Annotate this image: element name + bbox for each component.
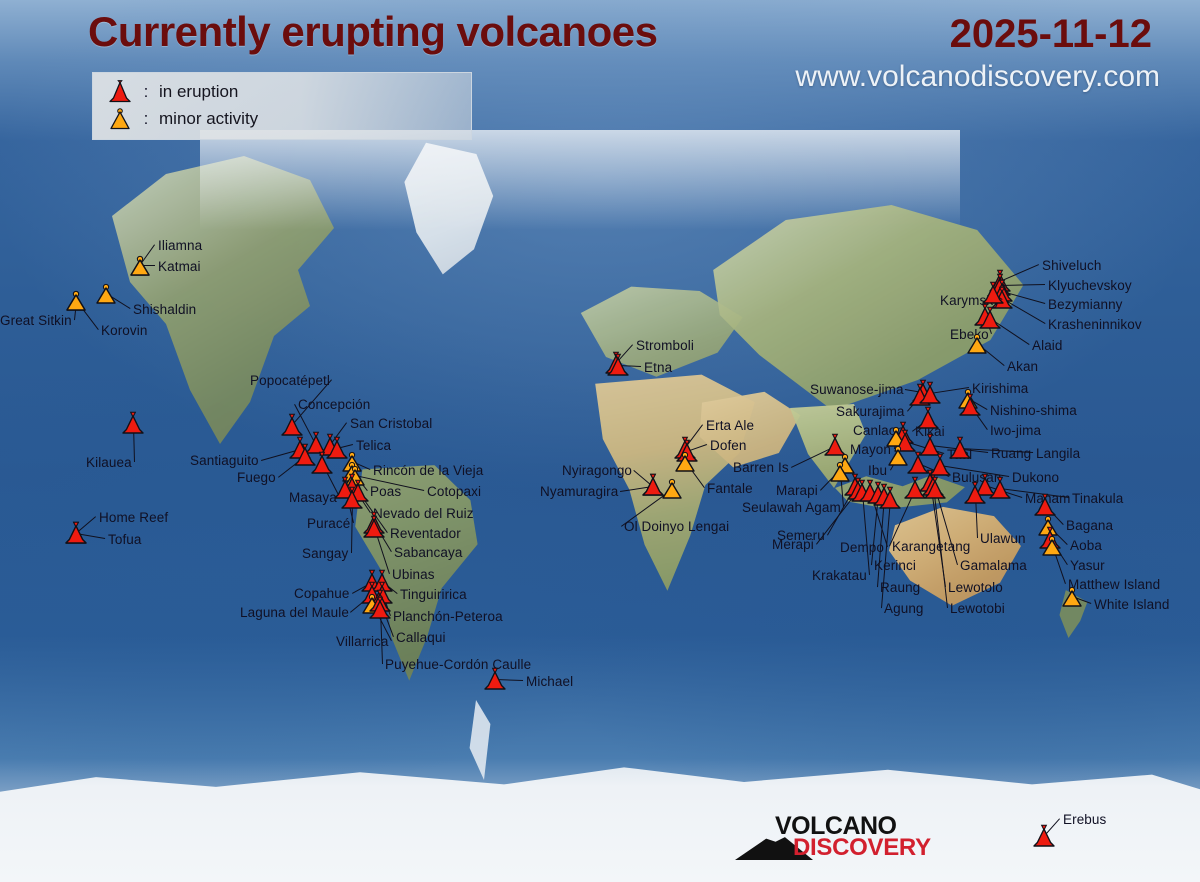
volcano-label: Santiaguito: [190, 453, 259, 468]
legend-label-minor-activity: minor activity: [159, 109, 258, 129]
volcano-label: Alaid: [1032, 338, 1063, 353]
volcano-label: Tinakula: [1072, 491, 1123, 506]
volcano-label: Popocatépetl: [250, 373, 330, 388]
volcano-label: Laguna del Maule: [240, 605, 349, 620]
volcano-label: Katmai: [158, 259, 201, 274]
red-volcano-icon: [107, 80, 133, 104]
volcano-label: Nyamuragira: [540, 484, 618, 499]
volcano-label: Planchón-Peteroa: [393, 609, 503, 624]
volcano-label: White Island: [1094, 597, 1169, 612]
volcano-label: Concepción: [298, 397, 370, 412]
volcano-label: Callaqui: [396, 630, 446, 645]
volcano-label: Nevado del Ruiz: [373, 506, 474, 521]
volcano-label: Bezymianny: [1048, 297, 1123, 312]
volcano-label: Suwanose-jima: [810, 382, 904, 397]
volcano-label: Great Sitkin: [0, 313, 72, 328]
logo-line-discovery: DISCOVERY: [793, 834, 931, 862]
volcano-label: Tofua: [108, 532, 142, 547]
volcano-label: Michael: [526, 674, 573, 689]
volcano-label: Reventador: [390, 526, 461, 541]
volcano-label: Puracé: [307, 516, 350, 531]
legend-row-in-eruption: : in eruption: [107, 79, 238, 105]
volcano-label: Seulawah Agam: [742, 500, 841, 515]
volcano-label: Iwo-jima: [990, 423, 1041, 438]
legend-label-in-eruption: in eruption: [159, 82, 238, 102]
volcano-label: Puyehue-Cordón Caulle: [385, 657, 531, 672]
website-url: www.volcanodiscovery.com: [795, 60, 1160, 94]
volcano-label: Ol Doinyo Lengai: [624, 519, 729, 534]
legend-separator: :: [133, 82, 159, 102]
volcano-label: Lewotolo: [948, 580, 1003, 595]
volcano-label: Kilauea: [86, 455, 132, 470]
volcano-label: Etna: [644, 360, 672, 375]
legend-separator: :: [133, 109, 159, 129]
volcano-label: Iliamna: [158, 238, 202, 253]
volcano-label: Sakurajima: [836, 404, 905, 419]
volcano-label: Dukono: [1012, 470, 1059, 485]
volcano-label: Home Reef: [99, 510, 168, 525]
volcano-label: Erta Ale: [706, 418, 754, 433]
volcano-label: Aoba: [1070, 538, 1102, 553]
volcano-label: Masaya: [289, 490, 337, 505]
volcano-label: Tinguiririca: [400, 587, 467, 602]
volcano-label: Ruang: [991, 446, 1031, 461]
map-date: 2025-11-12: [950, 12, 1152, 57]
volcanodiscovery-logo: VOLCANO DISCOVERY: [735, 812, 900, 860]
volcano-label: Nyiragongo: [562, 463, 632, 478]
volcano-label: Korovin: [101, 323, 147, 338]
volcano-label: Sabancaya: [394, 545, 462, 560]
volcano-label: Akan: [1007, 359, 1038, 374]
volcano-label: Agung: [884, 601, 924, 616]
volcano-label: Cotopaxi: [427, 484, 481, 499]
volcano-label: Yasur: [1070, 558, 1105, 573]
volcano-label: Fuego: [237, 470, 276, 485]
volcano-label: Sangay: [302, 546, 348, 561]
volcano-label: Dofen: [710, 438, 747, 453]
volcano-label: San Cristobal: [350, 416, 432, 431]
volcano-label: Erebus: [1063, 812, 1106, 827]
volcano-label: Shishaldin: [133, 302, 196, 317]
legend-box: : in eruption : minor activity: [92, 72, 472, 140]
volcano-label: Rincón de la Vieja: [373, 463, 483, 478]
volcano-label: Stromboli: [636, 338, 694, 353]
volcano-label: Klyuchevskoy: [1048, 278, 1132, 293]
volcano-label: Poas: [370, 484, 401, 499]
volcano-label: Marapi: [776, 483, 818, 498]
volcano-label: Fantale: [707, 481, 753, 496]
volcano-label: Kerinci: [874, 558, 916, 573]
legend-row-minor-activity: : minor activity: [107, 106, 258, 132]
volcano-label: Karangetang: [892, 539, 970, 554]
volcano-label: Copahue: [294, 586, 350, 601]
volcano-label: Dempo: [840, 540, 884, 555]
volcano-label: Shiveluch: [1042, 258, 1101, 273]
volcano-label: Gamalama: [960, 558, 1027, 573]
volcano-label: Raung: [880, 580, 920, 595]
volcano-map-page: Currently erupting volcanoes 2025-11-12 …: [0, 0, 1200, 882]
volcano-label: Ubinas: [392, 567, 435, 582]
volcano-label: Nishino-shima: [990, 403, 1077, 418]
volcano-label: Bagana: [1066, 518, 1113, 533]
volcano-label: Lewotobi: [950, 601, 1005, 616]
volcano-label: Merapi: [772, 537, 814, 552]
volcano-label: Ulawun: [980, 531, 1026, 546]
page-title: Currently erupting volcanoes: [88, 8, 657, 56]
volcano-label: Krasheninnikov: [1048, 317, 1142, 332]
orange-volcano-icon: [107, 107, 133, 131]
volcano-label: Barren Is: [733, 460, 789, 475]
volcano-label: Langila: [1036, 446, 1080, 461]
volcano-label: Krakatau: [812, 568, 867, 583]
